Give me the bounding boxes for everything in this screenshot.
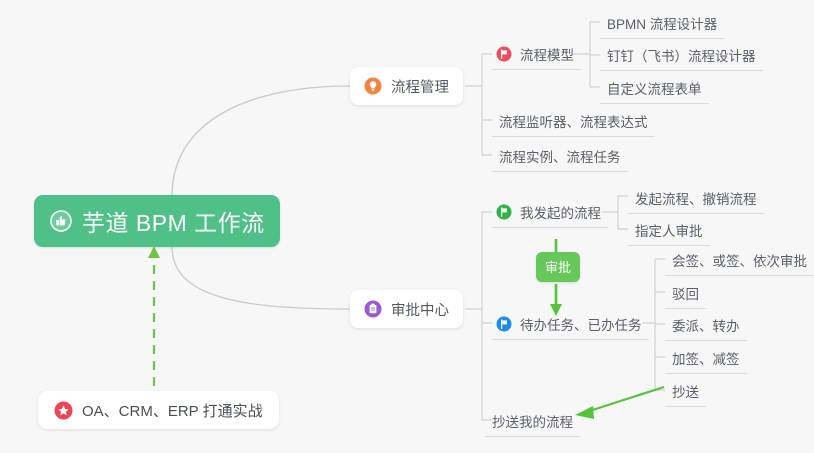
node-label: 待办任务、已办任务: [520, 314, 642, 334]
leaf-countersign-or-sequential[interactable]: 会签、或签、依次审批: [665, 247, 814, 276]
thumbs-up-icon: [50, 210, 72, 232]
node-label: 我发起的流程: [520, 202, 601, 222]
leaf-add-remove-sign[interactable]: 加签、减签: [665, 345, 747, 374]
leaf-bpmn-designer[interactable]: BPMN 流程设计器: [600, 10, 724, 39]
flag-icon: [496, 204, 512, 220]
leaf-process-instance-task[interactable]: 流程实例、流程任务: [492, 143, 628, 172]
leaf-start-cancel-process[interactable]: 发起流程、撤销流程: [628, 185, 764, 214]
leaf-custom-process-form[interactable]: 自定义流程表单: [600, 75, 709, 104]
bottom-note-card[interactable]: OA、CRM、ERP 打通实战: [38, 391, 279, 429]
leaf-delegate-transfer[interactable]: 委派、转办: [665, 312, 747, 341]
leaf-reject[interactable]: 驳回: [665, 280, 706, 309]
bottom-note-arrow: [148, 246, 160, 386]
node-todo-done-tasks[interactable]: 待办任务、已办任务: [492, 311, 649, 340]
branch-node-process-management[interactable]: 流程管理: [350, 67, 463, 105]
branch-label: 流程管理: [391, 76, 449, 97]
branch-node-approval-center[interactable]: 审批中心: [350, 290, 463, 328]
root-node[interactable]: 芋道 BPM 工作流: [34, 195, 280, 247]
approve-annotation-chip: 审批: [536, 252, 580, 282]
lightbulb-icon: [364, 77, 382, 95]
branch-label: 审批中心: [391, 299, 449, 320]
bottom-note-label: OA、CRM、ERP 打通实战: [82, 400, 263, 421]
flag-icon: [496, 316, 512, 332]
cc-link-arrow: [575, 387, 664, 419]
leaf-carbon-copy[interactable]: 抄送: [665, 378, 706, 407]
leaf-process-listener-expression[interactable]: 流程监听器、流程表达式: [492, 108, 655, 137]
flag-icon: [496, 46, 512, 62]
node-label: 流程模型: [520, 44, 574, 64]
leaf-processes-cc-to-me[interactable]: 抄送我的流程: [485, 408, 580, 437]
mindmap-canvas: 芋道 BPM 工作流 流程管理 流程模型 BPMN 流程设计器 钉钉（飞书）流程…: [0, 0, 814, 453]
clipboard-icon: [364, 300, 382, 318]
star-icon: [54, 401, 73, 420]
node-process-model[interactable]: 流程模型: [492, 41, 581, 70]
leaf-dingtalk-feishu-designer[interactable]: 钉钉（飞书）流程设计器: [600, 42, 763, 71]
leaf-assignee-approval[interactable]: 指定人审批: [628, 217, 710, 246]
node-my-initiated-processes[interactable]: 我发起的流程: [492, 199, 608, 228]
root-label: 芋道 BPM 工作流: [82, 204, 265, 238]
